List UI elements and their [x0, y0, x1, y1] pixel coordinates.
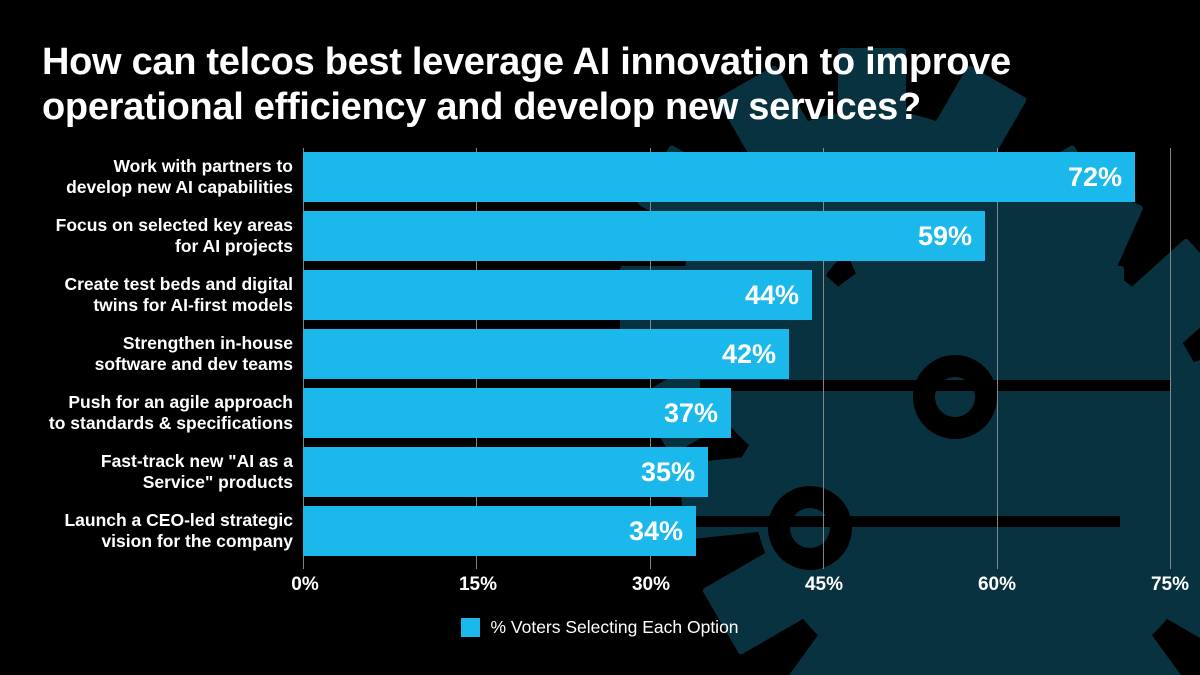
plot-area: 72% 59% 44% 42% 37% 35% 34% — [303, 148, 1170, 569]
table-row: 34% — [303, 506, 1170, 556]
page-title: How can telcos best leverage AI innovati… — [42, 40, 1162, 130]
bar-value-label: 35% — [303, 447, 708, 497]
category-label: Create test beds and digital twins for A… — [10, 270, 293, 320]
chart-canvas: How can telcos best leverage AI innovati… — [0, 0, 1200, 675]
x-tick-label: 60% — [978, 574, 1016, 596]
chart-legend: % Voters Selecting Each Option — [0, 617, 1200, 638]
category-label: Launch a CEO-led strategic vision for th… — [10, 506, 293, 556]
category-label: Push for an agile approach to standards … — [10, 388, 293, 438]
x-tick-label: 15% — [459, 574, 497, 596]
x-tick-label: 0% — [291, 574, 318, 596]
category-label: Focus on selected key areas for AI proje… — [10, 211, 293, 261]
bar-value-label: 44% — [303, 270, 812, 320]
category-label: Work with partners to develop new AI cap… — [10, 152, 293, 202]
bar-value-label: 37% — [303, 388, 731, 438]
x-tick-label: 30% — [632, 574, 670, 596]
table-row: 35% — [303, 447, 1170, 497]
table-row: 42% — [303, 329, 1170, 379]
x-tick-label: 75% — [1151, 574, 1189, 596]
bar-value-label: 59% — [303, 211, 985, 261]
legend-color-swatch — [461, 618, 480, 637]
gridline-75 — [1170, 148, 1171, 569]
table-row: 72% — [303, 152, 1170, 202]
x-tick-label: 45% — [805, 574, 843, 596]
category-label: Fast-track new "AI as a Service" product… — [10, 447, 293, 497]
table-row: 44% — [303, 270, 1170, 320]
bar-value-label: 72% — [303, 152, 1135, 202]
bar-value-label: 34% — [303, 506, 696, 556]
table-row: 37% — [303, 388, 1170, 438]
legend-label: % Voters Selecting Each Option — [490, 617, 738, 638]
bar-value-label: 42% — [303, 329, 789, 379]
table-row: 59% — [303, 211, 1170, 261]
category-label: Strengthen in-house software and dev tea… — [10, 329, 293, 379]
